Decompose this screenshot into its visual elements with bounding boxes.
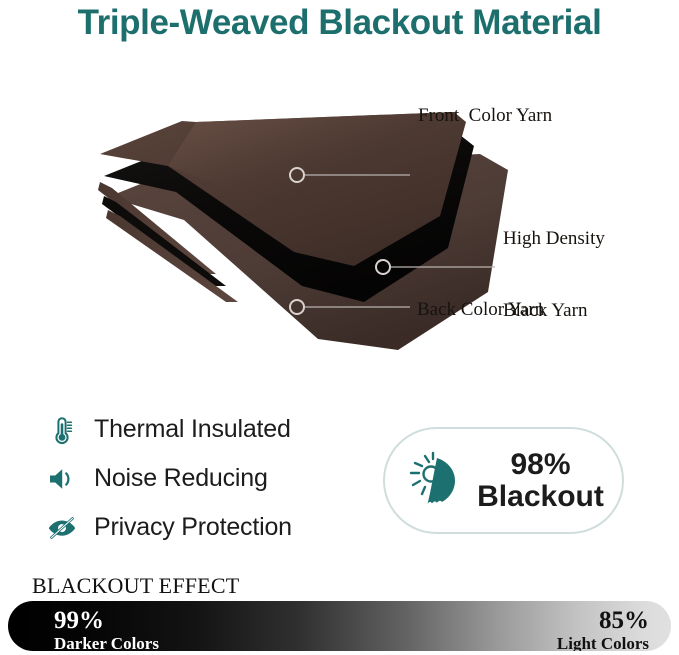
sun-blocked-curtain-icon	[403, 446, 473, 516]
feature-thermal-insulated: Thermal Insulated	[44, 408, 364, 451]
light-colors-stat: 85% Light Colors	[557, 608, 649, 651]
callout-label-front: Front Color Yarn	[418, 104, 552, 128]
blackout-word: Blackout	[477, 481, 604, 513]
blackout-percent: 98%	[477, 449, 604, 481]
darker-colors-caption: Darker Colors	[54, 635, 159, 651]
blackout-percentage-badge: 98% Blackout	[383, 427, 624, 534]
feature-label: Thermal Insulated	[94, 415, 291, 444]
light-colors-percent: 85%	[557, 608, 649, 633]
feature-noise-reducing: Noise Reducing	[44, 457, 364, 500]
blackout-effect-gradient-bar: 99% Darker Colors 85% Light Colors	[8, 601, 671, 651]
blackout-effect-heading: BLACKOUT EFFECT	[32, 573, 239, 599]
darker-colors-stat: 99% Darker Colors	[54, 608, 159, 651]
page-title: Triple-Weaved Blackout Material	[0, 0, 679, 44]
feature-label: Privacy Protection	[94, 513, 292, 542]
callout-label-middle-line1: High Density	[503, 227, 605, 251]
feature-label: Noise Reducing	[94, 464, 268, 493]
feature-list: Thermal Insulated Noise Reducing Privacy…	[44, 408, 364, 555]
darker-colors-percent: 99%	[54, 608, 159, 633]
feature-privacy-protection: Privacy Protection	[44, 506, 364, 549]
blackout-badge-text: 98% Blackout	[477, 449, 604, 513]
light-colors-caption: Light Colors	[557, 635, 649, 651]
speaker-sound-icon	[44, 462, 80, 496]
callout-label-back: Back Color Yarn	[417, 298, 544, 322]
eye-slash-icon	[44, 511, 80, 545]
thermometer-icon	[44, 413, 80, 447]
